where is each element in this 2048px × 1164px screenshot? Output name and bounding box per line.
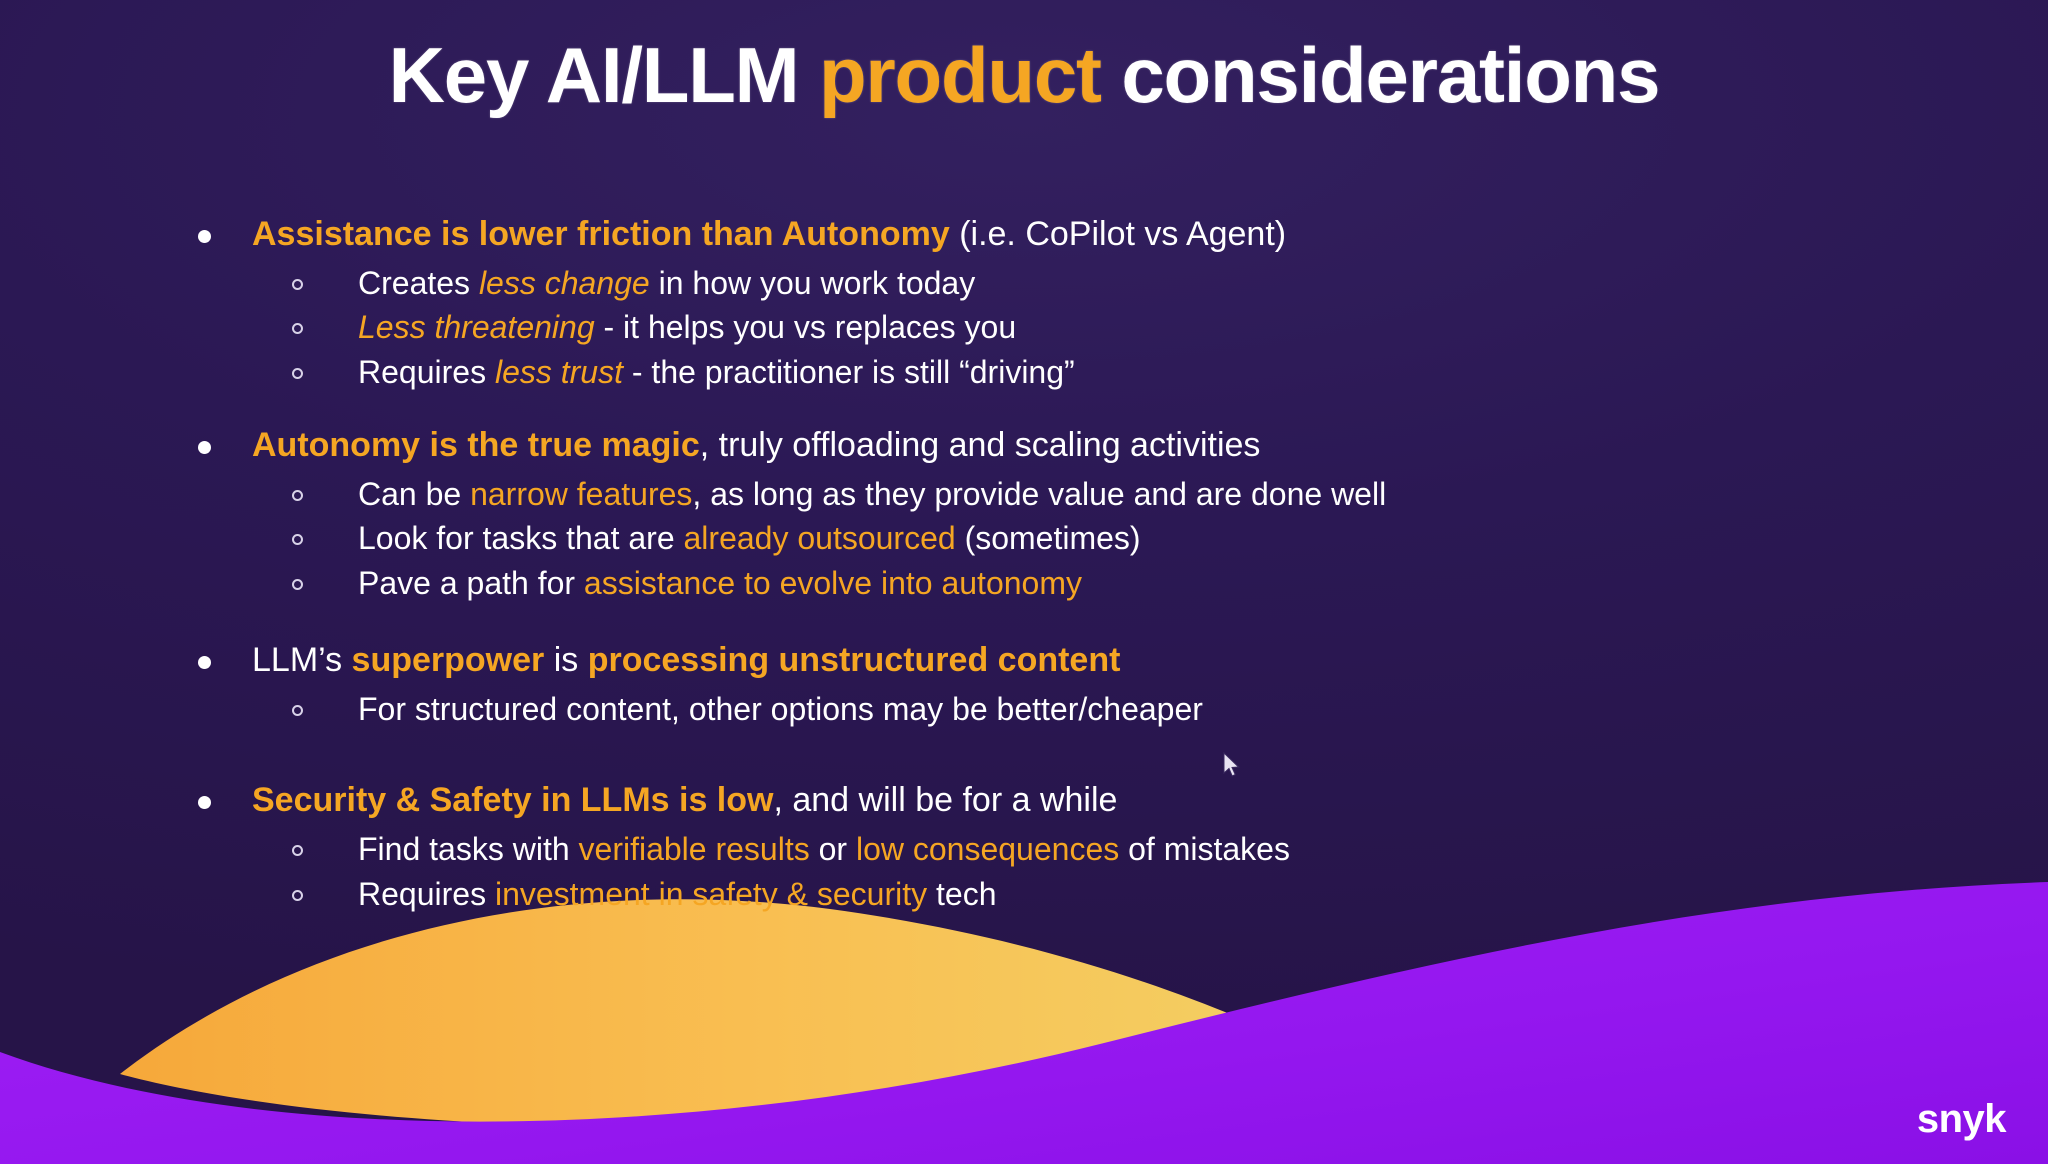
sub-bullet-ring-icon bbox=[292, 579, 303, 590]
bullet-group-security-safety: Security & Safety in LLMs is low, and wi… bbox=[176, 778, 1966, 915]
bullet-main-superpower: LLM’s superpower is processing unstructu… bbox=[176, 638, 1966, 682]
sub-bullet-ring-icon bbox=[292, 534, 303, 545]
sub-bullet-structured-content: For structured content, other options ma… bbox=[176, 688, 1966, 730]
sub-bullet-requires-less-trust: Requires less trust - the practitioner i… bbox=[176, 351, 1966, 393]
sub-bullet-already-outsourced: Look for tasks that are already outsourc… bbox=[176, 517, 1966, 559]
bullet-group-assistance: Assistance is lower friction than Autono… bbox=[176, 212, 1966, 393]
bullet-main-emphasis-1: superpower bbox=[352, 641, 545, 679]
bullet-dot-icon bbox=[198, 656, 211, 669]
bullet-dot-icon bbox=[198, 441, 211, 454]
title-part-2: considerations bbox=[1101, 31, 1659, 119]
slide-title: Key AI/LLM product considerations bbox=[0, 30, 2048, 121]
title-highlight: product bbox=[819, 31, 1101, 119]
sub-text-italic: Less threatening bbox=[358, 309, 595, 345]
slide-canvas: Key AI/LLM product considerations Assist… bbox=[0, 0, 2048, 1164]
sub-text-tail: - it helps you vs replaces you bbox=[595, 309, 1017, 345]
sub-text-accent: already outsourced bbox=[684, 520, 956, 556]
sub-bullet-ring-icon bbox=[292, 279, 303, 290]
bullet-main-tail: (i.e. CoPilot vs Agent) bbox=[950, 215, 1286, 253]
bullet-main-mid: is bbox=[544, 641, 587, 679]
bullet-main-tail: , and will be for a while bbox=[773, 781, 1117, 819]
sub-text-lead: Requires bbox=[358, 876, 495, 912]
sub-bullet-ring-icon bbox=[292, 705, 303, 716]
sub-text-lead: Can be bbox=[358, 476, 470, 512]
sub-bullet-ring-icon bbox=[292, 890, 303, 901]
sub-text-tail: (sometimes) bbox=[956, 520, 1141, 556]
sub-text-italic: less change bbox=[479, 265, 650, 301]
sub-text-lead: For structured content, other options ma… bbox=[358, 691, 1203, 727]
sub-text-tail: of mistakes bbox=[1119, 831, 1290, 867]
sub-text-accent: assistance to evolve into autonomy bbox=[584, 565, 1082, 601]
bullet-main-autonomy: Autonomy is the true magic, truly offloa… bbox=[176, 423, 1966, 467]
bullet-group-superpower: LLM’s superpower is processing unstructu… bbox=[176, 638, 1966, 730]
bullet-main-emphasis-2: processing unstructured content bbox=[588, 641, 1121, 679]
sub-text-lead: Creates bbox=[358, 265, 479, 301]
bullet-main-tail: , truly offloading and scaling activitie… bbox=[700, 426, 1261, 464]
sub-text-accent-1: verifiable results bbox=[579, 831, 810, 867]
sub-text-accent: narrow features bbox=[470, 476, 692, 512]
sub-text-tail: tech bbox=[927, 876, 996, 912]
bullet-group-autonomy: Autonomy is the true magic, truly offloa… bbox=[176, 423, 1966, 604]
bullet-main-emphasis: Autonomy is the true magic bbox=[252, 426, 700, 464]
sub-bullet-ring-icon bbox=[292, 845, 303, 856]
sub-text-lead: Requires bbox=[358, 354, 495, 390]
bullet-main-security: Security & Safety in LLMs is low, and wi… bbox=[176, 778, 1966, 822]
sub-bullet-creates-less-change: Creates less change in how you work toda… bbox=[176, 262, 1966, 304]
sub-text-tail: - the practitioner is still “driving” bbox=[623, 354, 1075, 390]
title-part-1: Key AI/LLM bbox=[389, 31, 819, 119]
sub-bullet-assistance-to-autonomy: Pave a path for assistance to evolve int… bbox=[176, 562, 1966, 604]
sub-bullet-ring-icon bbox=[292, 323, 303, 334]
sub-text-tail: , as long as they provide value and are … bbox=[692, 476, 1386, 512]
bullet-main-assistance: Assistance is lower friction than Autono… bbox=[176, 212, 1966, 256]
sub-bullet-investment-safety-security: Requires investment in safety & security… bbox=[176, 873, 1966, 915]
sub-text-tail: in how you work today bbox=[650, 265, 976, 301]
sub-bullet-narrow-features: Can be narrow features, as long as they … bbox=[176, 473, 1966, 515]
sub-bullet-verifiable-results: Find tasks with verifiable results or lo… bbox=[176, 828, 1966, 870]
sub-text-lead: Look for tasks that are bbox=[358, 520, 684, 556]
sub-text-mid: or bbox=[810, 831, 856, 867]
snyk-logo: snyk bbox=[1917, 1097, 2006, 1142]
bullet-dot-icon bbox=[198, 230, 211, 243]
bullet-main-emphasis: Assistance is lower friction than Autono… bbox=[252, 215, 950, 253]
sub-bullet-ring-icon bbox=[292, 490, 303, 501]
sub-bullet-less-threatening: Less threatening - it helps you vs repla… bbox=[176, 306, 1966, 348]
sub-text-lead: Pave a path for bbox=[358, 565, 584, 601]
sub-text-accent-2: low consequences bbox=[856, 831, 1119, 867]
slide-body: Assistance is lower friction than Autono… bbox=[176, 212, 1966, 917]
sub-text-italic: less trust bbox=[495, 354, 623, 390]
sub-bullet-ring-icon bbox=[292, 368, 303, 379]
sub-text-accent: investment in safety & security bbox=[495, 876, 927, 912]
bullet-main-emphasis: Security & Safety in LLMs is low bbox=[252, 781, 773, 819]
sub-text-lead: Find tasks with bbox=[358, 831, 579, 867]
bullet-dot-icon bbox=[198, 796, 211, 809]
bullet-main-lead: LLM’s bbox=[252, 641, 352, 679]
